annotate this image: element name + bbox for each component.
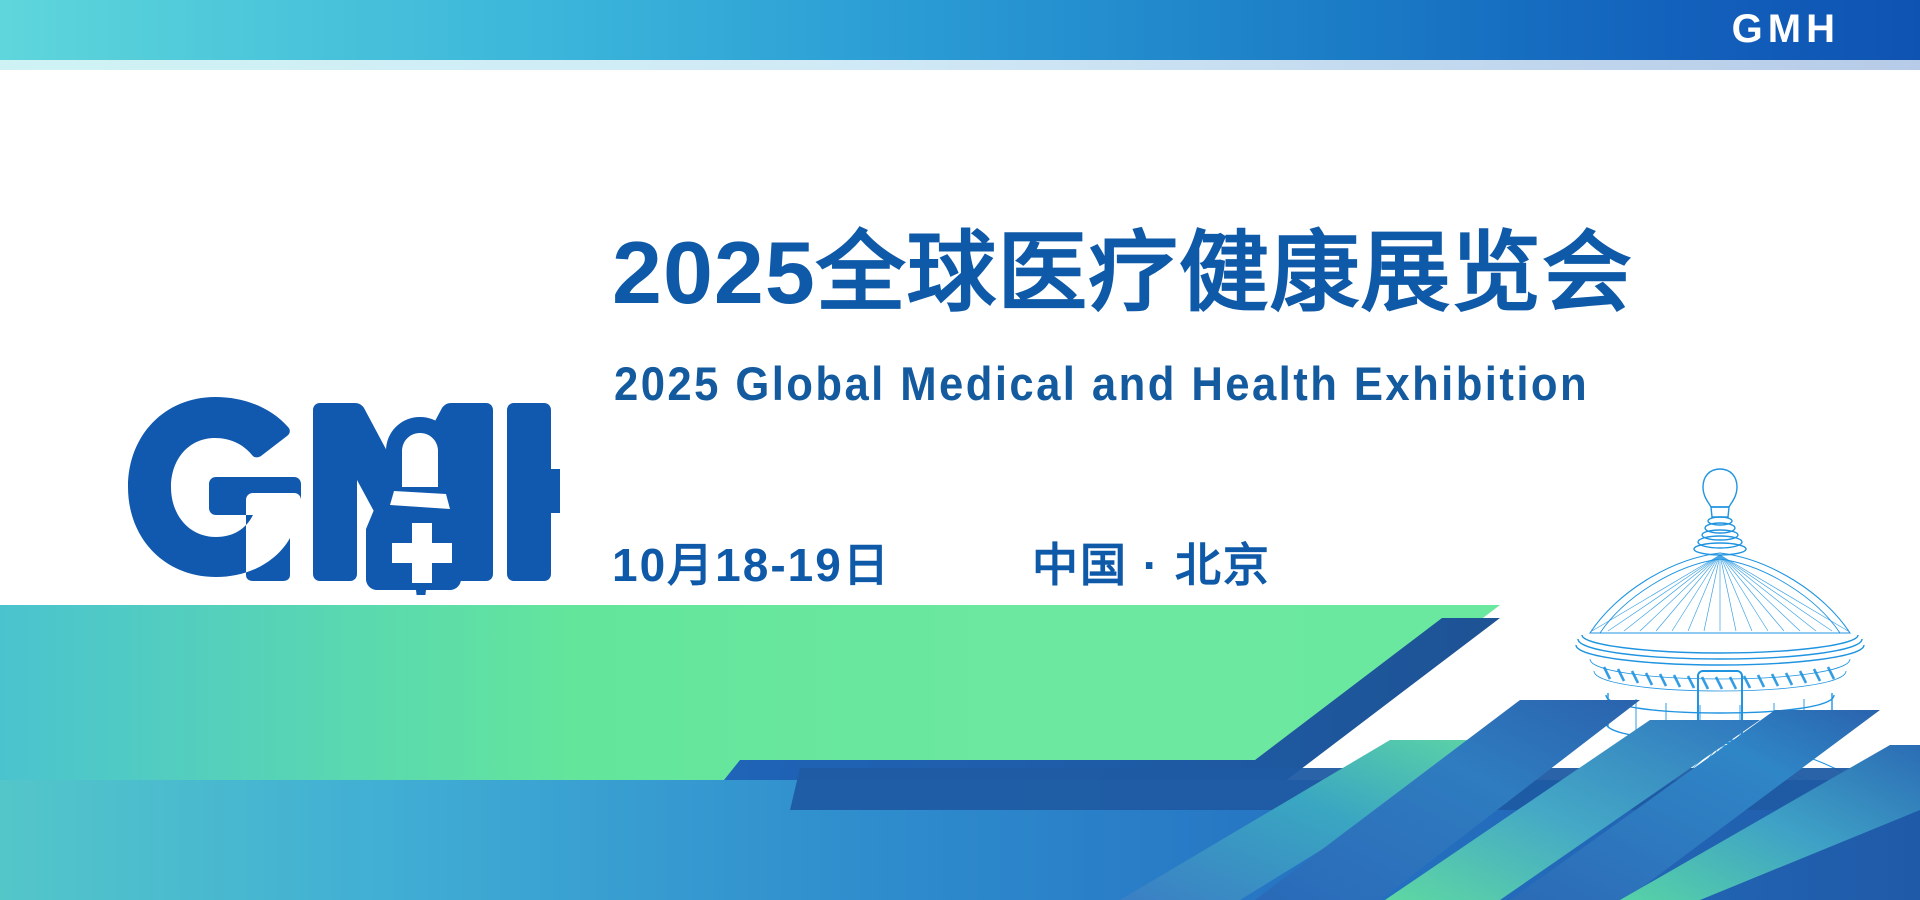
top-banner-shadow: [0, 60, 1920, 70]
bottom-decoration: [0, 580, 1920, 900]
page-title-chinese: 2025全球医疗健康展览会: [612, 225, 1633, 321]
poster-canvas: GMH 2025全球医疗健康: [0, 0, 1920, 900]
banner-brand-text: GMH: [1732, 0, 1840, 60]
top-banner: [0, 0, 1920, 60]
page-title-english: 2025 Global Medical and Health Exhibitio…: [614, 356, 1589, 411]
